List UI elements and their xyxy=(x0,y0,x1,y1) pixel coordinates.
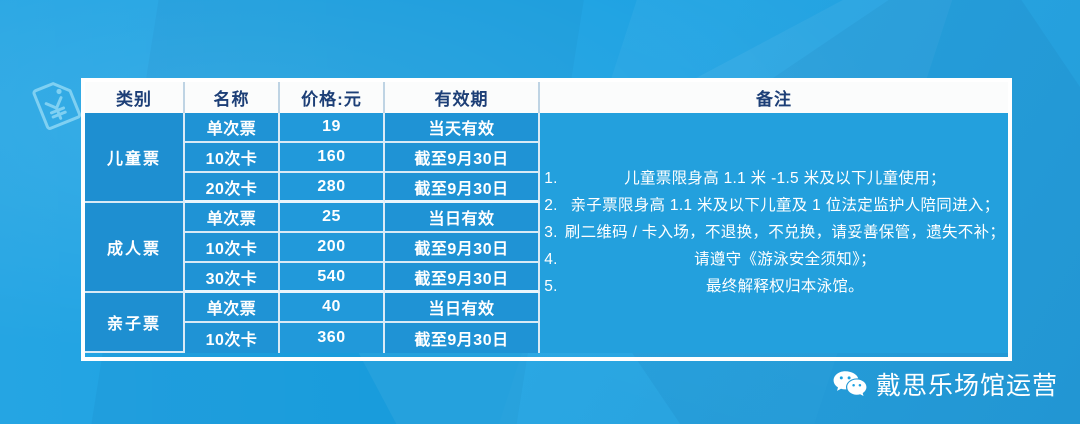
table-header-row: 类别 名称 价格:元 有效期 备注 xyxy=(85,82,1008,113)
wechat-account-bar: 戴思乐场馆运营 xyxy=(833,366,1058,402)
remark-number: 4. xyxy=(540,247,562,273)
cell-validity: 截至9月30日 xyxy=(385,173,540,203)
remark-number: 1. xyxy=(540,166,562,192)
list-item: 2. 亲子票限身高 1.1 米及以下儿童及 1 位法定监护人陪同进入； xyxy=(540,193,1008,219)
column-header-category: 类别 xyxy=(85,82,185,113)
cell-name: 单次票 xyxy=(185,203,280,233)
remark-number: 3. xyxy=(540,220,562,246)
cell-name: 10次卡 xyxy=(185,233,280,263)
cell-price: 19 xyxy=(280,113,385,143)
cell-validity: 截至9月30日 xyxy=(385,143,540,173)
cell-price: 160 xyxy=(280,143,385,173)
table-body: 儿童票 单次票 19 当天有效 1. 儿童票限身高 1.1 米 -1.5 米及以… xyxy=(85,113,1008,353)
cell-name: 10次卡 xyxy=(185,323,280,353)
table-header: 类别 名称 价格:元 有效期 备注 xyxy=(85,82,1008,113)
wechat-account-name: 戴思乐场馆运营 xyxy=(876,366,1058,402)
cell-validity: 截至9月30日 xyxy=(385,263,540,293)
list-item: 3. 刷二维码 / 卡入场，不退换，不兑换，请妥善保管，遗失不补； xyxy=(540,220,1008,246)
cell-price: 25 xyxy=(280,203,385,233)
remark-text: 最终解释权归本泳馆。 xyxy=(562,274,1008,300)
cell-category: 成人票 xyxy=(85,203,185,293)
cell-validity: 截至9月30日 xyxy=(385,233,540,263)
cell-remarks: 1. 儿童票限身高 1.1 米 -1.5 米及以下儿童使用； 2. 亲子票限身高… xyxy=(540,113,1008,353)
remark-number: 5. xyxy=(540,274,562,300)
column-header-price: 价格:元 xyxy=(280,82,385,113)
price-tag-yuan-icon xyxy=(28,76,84,132)
cell-price: 40 xyxy=(280,293,385,323)
cell-name: 20次卡 xyxy=(185,173,280,203)
cell-price: 280 xyxy=(280,173,385,203)
cell-name: 单次票 xyxy=(185,113,280,143)
list-item: 4. 请遵守《游泳安全须知》； xyxy=(540,247,1008,273)
cell-validity: 当天有效 xyxy=(385,113,540,143)
wechat-logo-icon xyxy=(833,370,867,399)
cell-validity: 当日有效 xyxy=(385,203,540,233)
remark-number: 2. xyxy=(540,193,562,219)
cell-name: 30次卡 xyxy=(185,263,280,293)
cell-name: 单次票 xyxy=(185,293,280,323)
remark-text: 儿童票限身高 1.1 米 -1.5 米及以下儿童使用； xyxy=(562,166,1008,192)
cell-name: 10次卡 xyxy=(185,143,280,173)
cell-price: 200 xyxy=(280,233,385,263)
list-item: 1. 儿童票限身高 1.1 米 -1.5 米及以下儿童使用； xyxy=(540,166,1008,192)
list-item: 5. 最终解释权归本泳馆。 xyxy=(540,274,1008,300)
remark-text: 刷二维码 / 卡入场，不退换，不兑换，请妥善保管，遗失不补； xyxy=(562,220,1008,246)
column-header-name: 名称 xyxy=(185,82,280,113)
cell-price: 360 xyxy=(280,323,385,353)
column-header-remarks: 备注 xyxy=(540,82,1008,113)
remark-text: 亲子票限身高 1.1 米及以下儿童及 1 位法定监护人陪同进入； xyxy=(562,193,1008,219)
column-header-validity: 有效期 xyxy=(385,82,540,113)
cell-category: 亲子票 xyxy=(85,293,185,353)
cell-validity: 截至9月30日 xyxy=(385,323,540,353)
price-table: 类别 名称 价格:元 有效期 备注 儿童票 单次票 19 当天有效 1. 儿童票… xyxy=(85,82,1008,353)
remark-list: 1. 儿童票限身高 1.1 米 -1.5 米及以下儿童使用； 2. 亲子票限身高… xyxy=(540,166,1008,300)
cell-price: 540 xyxy=(280,263,385,293)
cell-validity: 当日有效 xyxy=(385,293,540,323)
table-row: 儿童票 单次票 19 当天有效 1. 儿童票限身高 1.1 米 -1.5 米及以… xyxy=(85,113,1008,143)
price-poster: 类别 名称 价格:元 有效期 备注 儿童票 单次票 19 当天有效 1. 儿童票… xyxy=(0,0,1080,424)
remark-text: 请遵守《游泳安全须知》； xyxy=(562,247,1008,273)
cell-category: 儿童票 xyxy=(85,113,185,203)
